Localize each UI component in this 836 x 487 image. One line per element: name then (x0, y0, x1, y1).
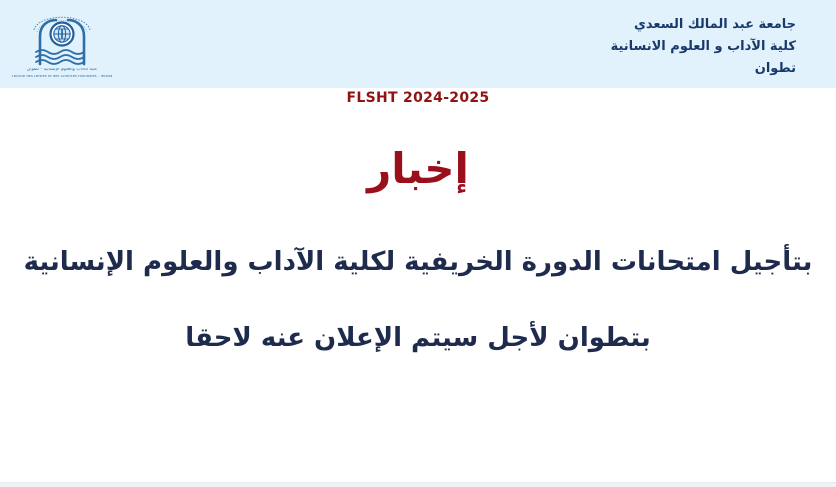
university-logo: كلية الآداب والعلوم الإنسانية - تطوان Fa… (12, 4, 112, 86)
page-title: إخبار (0, 138, 836, 200)
university-arch-globe-logo (12, 4, 112, 70)
academic-year-label: FLSHT 2024-2025 (0, 90, 836, 106)
logo-caption-french: Faculté des Lettres et des Sciences Huma… (12, 75, 112, 79)
city-name-line: تطوان (611, 58, 796, 80)
university-name-line: جامعة عبد المالك السعدي (611, 14, 796, 36)
notice-body: بتأجيل امتحانات الدورة الخريفية لكلية ال… (0, 224, 836, 376)
notice-line-2: بتطوان لأجل سيتم الإعلان عنه لاحقا (0, 300, 836, 376)
header-band: كلية الآداب والعلوم الإنسانية - تطوان Fa… (0, 0, 836, 88)
university-heading: جامعة عبد المالك السعدي كلية الآداب و ال… (611, 14, 796, 80)
logo-caption-arabic: كلية الآداب والعلوم الإنسانية - تطوان (12, 68, 112, 73)
bottom-strip (0, 482, 836, 487)
notice-line-1: بتأجيل امتحانات الدورة الخريفية لكلية ال… (0, 224, 836, 300)
faculty-name-line: كلية الآداب و العلوم الانسانية (611, 36, 796, 58)
notice-content: إخبار بتأجيل امتحانات الدورة الخريفية لك… (0, 120, 836, 376)
